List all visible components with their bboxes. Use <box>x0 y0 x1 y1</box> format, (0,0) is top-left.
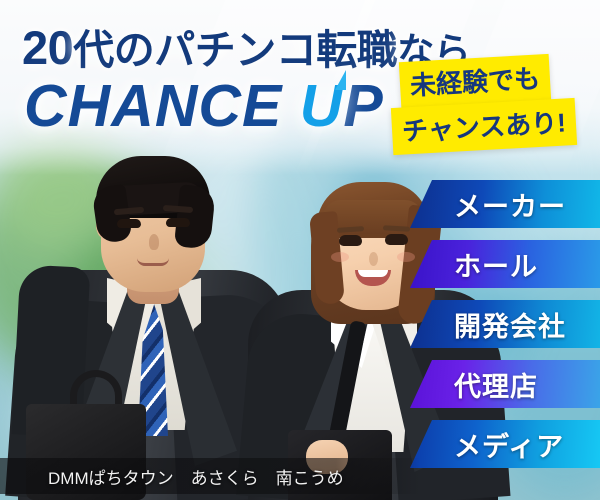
menu-item-development-company-label: 開発会社 <box>454 305 566 344</box>
logo-p-letter: P <box>343 73 383 139</box>
menu-item-maker-label: メーカー <box>454 185 566 224</box>
credit-bar: DMMぱちタウン あさくら 南こうめ <box>0 458 420 494</box>
up-arrow-icon <box>335 70 346 90</box>
headline-middle: 代のパチンコ転職 <box>73 27 397 73</box>
menu-item-maker[interactable]: メーカー <box>410 180 600 228</box>
menu-item-hall[interactable]: ホール <box>410 240 600 288</box>
menu-item-media[interactable]: メディア <box>410 420 600 468</box>
logo-u-letter: U <box>300 72 344 140</box>
logo-chance-text: CHANCE <box>24 73 300 139</box>
recruitment-banner: 20代のパチンコ転職なら CHANCE UP 未経験でも チャンスあり! メーカ… <box>0 0 600 500</box>
chance-up-logo: CHANCE UP <box>24 72 384 140</box>
category-menu: メーカー ホール 開発会社 代理店 メディア <box>400 180 600 468</box>
credit-text: DMMぱちタウン あさくら 南こうめ <box>48 464 344 489</box>
menu-item-hall-label: ホール <box>454 245 538 284</box>
menu-item-agency-label: 代理店 <box>454 365 538 404</box>
menu-item-media-label: メディア <box>454 425 564 464</box>
menu-item-development-company[interactable]: 開発会社 <box>410 300 600 348</box>
headline-number: 20 <box>22 21 73 74</box>
menu-item-agency[interactable]: 代理店 <box>410 360 600 408</box>
